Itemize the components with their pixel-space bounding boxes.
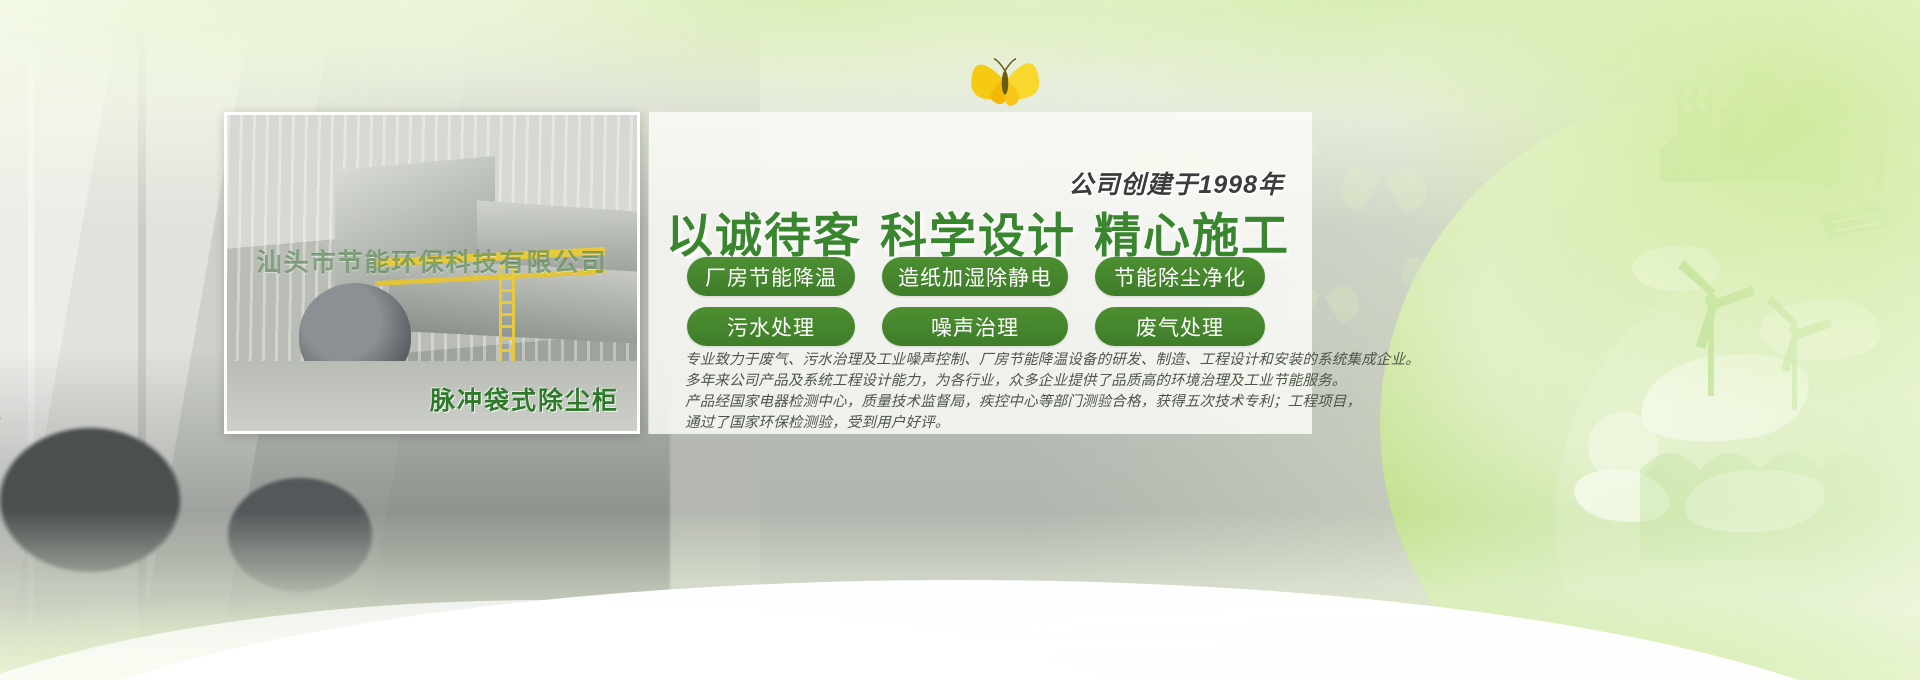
photo-watermark: 汕头市节能环保科技有限公司 <box>227 243 637 279</box>
butterfly-yellow-icon <box>968 42 1042 116</box>
headline-segment-3: 精心施工 <box>1094 197 1290 266</box>
founded-year-text: 公司创建于1998年 <box>1068 165 1284 201</box>
service-tag[interactable]: 废气处理 <box>1095 307 1265 346</box>
product-photo-image: 汕头市节能环保科技有限公司 脉冲袋式除尘柜 <box>227 115 637 431</box>
description-line: 产品经国家电器检测中心，质量技术监督局，疾控中心等部门测验合格，获得五次技术专利… <box>685 392 1313 413</box>
headline-segment-1: 以诚待客 <box>666 197 862 266</box>
service-tag[interactable]: 污水处理 <box>687 307 855 346</box>
service-tag[interactable]: 节能除尘净化 <box>1095 257 1265 296</box>
photo-caption: 脉冲袋式除尘柜 <box>430 381 619 417</box>
service-tag-list: 厂房节能降温 造纸加湿除静电 节能除尘净化 污水处理 噪声治理 废气处理 <box>687 257 1295 346</box>
service-tag[interactable]: 造纸加湿除静电 <box>882 257 1068 296</box>
headline-segment-2: 科学设计 <box>880 197 1076 266</box>
description-line: 多年来公司产品及系统工程设计能力，为各行业，众多企业提供了品质高的环境治理及工业… <box>685 371 1313 392</box>
product-photo-card[interactable]: 汕头市节能环保科技有限公司 脉冲袋式除尘柜 <box>224 112 640 434</box>
banner-stage: 汕头市节能环保科技有限公司 脉冲袋式除尘柜 公司创建于1998年 以诚待客科学设… <box>0 0 1920 680</box>
description-line: 通过了国家环保检测验，受到用户好评。 <box>685 413 1313 434</box>
description-line: 专业致力于废气、污水治理及工业噪声控制、厂房节能降温设备的研发、制造、工程设计和… <box>685 350 1313 371</box>
headline-slogan: 以诚待客科学设计精心施工 <box>666 197 1290 266</box>
company-description: 专业致力于废气、污水治理及工业噪声控制、厂房节能降温设备的研发、制造、工程设计和… <box>685 350 1313 434</box>
service-tag[interactable]: 噪声治理 <box>882 307 1068 346</box>
service-tag[interactable]: 厂房节能降温 <box>687 257 855 296</box>
content-card: 公司创建于1998年 以诚待客科学设计精心施工 厂房节能降温 造纸加湿除静电 节… <box>648 112 1312 434</box>
